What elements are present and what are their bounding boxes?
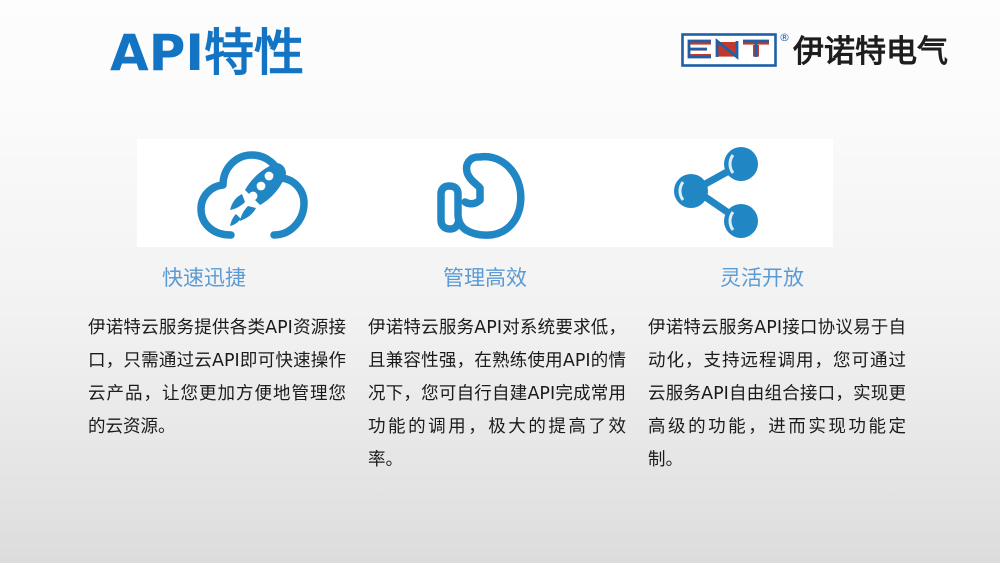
feature-heading-1: 快速迅捷	[88, 262, 346, 294]
brand-logo: ® 伊诺特电气	[681, 30, 948, 74]
feature-heading-2: 管理高效	[368, 262, 626, 294]
company-name: 伊诺特电气	[793, 37, 948, 68]
feature-body-2: 伊诺特云服务API对系统要求低，且兼容性强，在熟练使用API的情况下，您可自行自…	[368, 312, 626, 477]
feature-columns: 快速迅捷 伊诺特云服务提供各类API资源接口，只需通过云API即可快速操作云产品…	[88, 262, 928, 477]
flexed-bicep-icon	[432, 144, 538, 242]
feature-icon-cell-2	[369, 139, 601, 247]
page-title: API特性	[110, 22, 304, 84]
feature-body-3: 伊诺特云服务API接口协议易于自动化，支持远程调用，您可通过云服务API自由组合…	[648, 312, 906, 477]
feature-column-2: 管理高效 伊诺特云服务API对系统要求低，且兼容性强，在熟练使用API的情况下，…	[368, 262, 648, 477]
cloud-rocket-icon	[190, 144, 316, 242]
feature-column-3: 灵活开放 伊诺特云服务API接口协议易于自动化，支持远程调用，您可通过云服务AP…	[648, 262, 928, 477]
feature-column-1: 快速迅捷 伊诺特云服务提供各类API资源接口，只需通过云API即可快速操作云产品…	[88, 262, 368, 477]
feature-icon-cell-3	[601, 139, 833, 247]
slide-canvas: API特性 ®	[0, 0, 1000, 563]
feature-heading-3: 灵活开放	[648, 262, 906, 294]
feature-body-1: 伊诺特云服务提供各类API资源接口，只需通过云API即可快速操作云产品，让您更加…	[88, 312, 346, 444]
feature-icon-row	[137, 139, 833, 247]
registered-trademark-icon: ®	[779, 32, 790, 43]
ent-logo-icon	[681, 33, 777, 71]
share-network-icon	[667, 144, 767, 242]
feature-icon-cell-1	[137, 139, 369, 247]
